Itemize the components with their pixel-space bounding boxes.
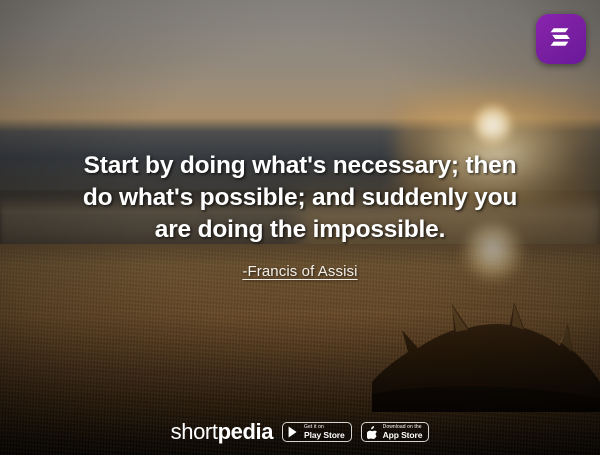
google-play-badge-label: Play Store xyxy=(304,431,345,440)
quote-attribution[interactable]: -Francis of Assisi xyxy=(242,263,357,280)
app-store-badge-small-label: Download on the xyxy=(383,425,423,430)
wordmark-short: short xyxy=(171,419,218,444)
wordmark-pedia: pedia xyxy=(218,419,273,444)
footer-brand-row: shortpedia Get it on Play Store Download xyxy=(0,421,600,443)
quote-card: Start by doing what's necessary; then do… xyxy=(0,0,600,455)
shortpedia-s-icon xyxy=(549,25,573,54)
shortpedia-wordmark: shortpedia xyxy=(171,421,273,443)
app-store-badge[interactable]: Download on the App Store xyxy=(361,422,430,443)
google-play-badge-small-label: Get it on xyxy=(304,425,345,430)
quote-line-2: do what's possible; and suddenly you xyxy=(0,182,600,214)
shortpedia-logo-badge[interactable] xyxy=(536,14,586,64)
google-play-icon xyxy=(287,425,300,439)
apple-icon xyxy=(366,425,379,439)
quote-line-1: Start by doing what's necessary; then xyxy=(0,150,600,182)
quote-block: Start by doing what's necessary; then do… xyxy=(0,150,600,281)
google-play-badge[interactable]: Get it on Play Store xyxy=(282,422,352,443)
quote-line-3: are doing the impossible. xyxy=(0,214,600,246)
app-store-badge-label: App Store xyxy=(383,431,423,440)
